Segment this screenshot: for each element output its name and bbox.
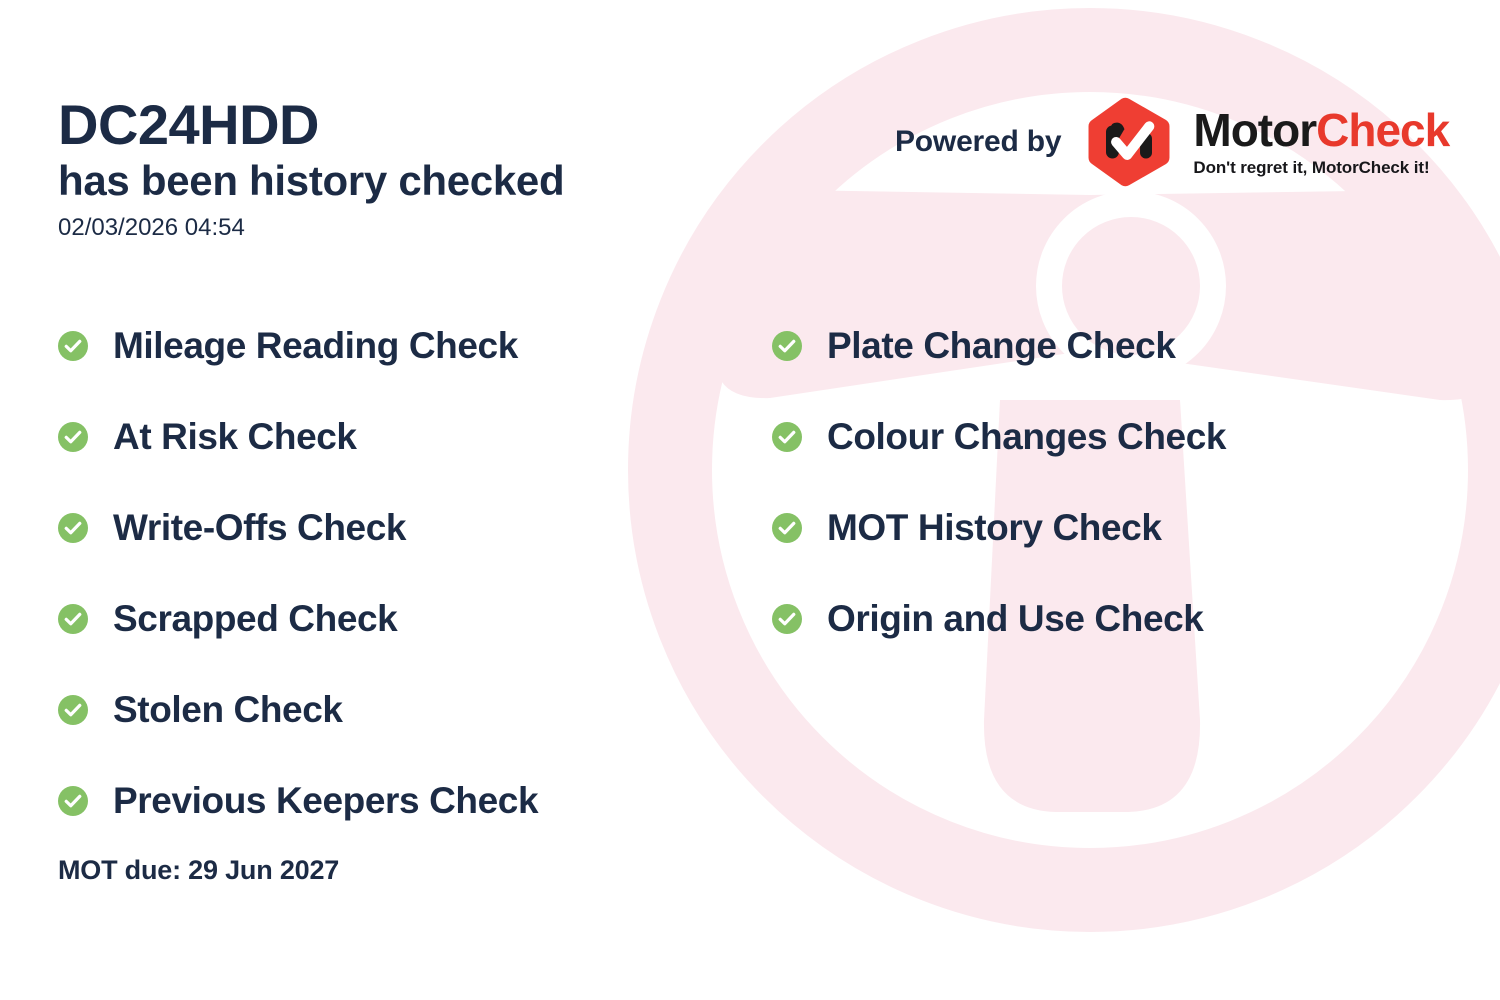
brand-lockup: Powered by MotorCheck Don't regret it, M…: [895, 96, 1449, 188]
check-timestamp: 02/03/2026 04:54: [58, 214, 818, 242]
vehicle-registration: DC24HDD: [58, 96, 818, 153]
list-item-label: At Risk Check: [113, 418, 357, 455]
check-circle-icon: [58, 422, 88, 452]
list-item-label: Stolen Check: [113, 691, 343, 728]
check-circle-icon: [772, 513, 802, 543]
report-header: DC24HDD has been history checked 02/03/2…: [58, 96, 818, 242]
list-item-label: Previous Keepers Check: [113, 782, 538, 819]
list-item: Origin and Use Check: [772, 573, 1226, 664]
list-item-label: Plate Change Check: [827, 327, 1176, 364]
brand-tagline: Don't regret it, MotorCheck it!: [1193, 158, 1449, 178]
list-item-label: Write-Offs Check: [113, 509, 406, 546]
list-item: MOT History Check: [772, 482, 1226, 573]
motorcheck-hexagon-logo-icon: [1083, 96, 1175, 188]
wordmark-text: MotorCheck: [1193, 107, 1449, 153]
check-circle-icon: [58, 331, 88, 361]
wordmark-check: Check: [1316, 104, 1449, 156]
list-item-label: Mileage Reading Check: [113, 327, 518, 364]
list-item-label: Scrapped Check: [113, 600, 397, 637]
check-circle-icon: [58, 604, 88, 634]
list-item-label: Colour Changes Check: [827, 418, 1226, 455]
list-item: At Risk Check: [58, 391, 538, 482]
report-card: DC24HDD has been history checked 02/03/2…: [0, 0, 1500, 1000]
check-circle-icon: [772, 604, 802, 634]
page-title: has been history checked: [58, 155, 818, 206]
checklist-left-column: Mileage Reading Check At Risk Check Writ…: [58, 300, 538, 846]
check-circle-icon: [772, 331, 802, 361]
list-item: Colour Changes Check: [772, 391, 1226, 482]
wordmark-motor: Motor: [1193, 104, 1316, 156]
list-item-label: MOT History Check: [827, 509, 1162, 546]
list-item-label: Origin and Use Check: [827, 600, 1204, 637]
checklist-right-column: Plate Change Check Colour Changes Check …: [772, 300, 1226, 664]
check-circle-icon: [772, 422, 802, 452]
list-item: Previous Keepers Check: [58, 755, 538, 846]
check-circle-icon: [58, 786, 88, 816]
mot-due-date: MOT due: 29 Jun 2027: [58, 855, 339, 886]
check-circle-icon: [58, 513, 88, 543]
list-item: Plate Change Check: [772, 300, 1226, 391]
powered-by-label: Powered by: [895, 125, 1061, 159]
list-item: Stolen Check: [58, 664, 538, 755]
motorcheck-wordmark: MotorCheck Don't regret it, MotorCheck i…: [1193, 107, 1449, 178]
list-item: Mileage Reading Check: [58, 300, 538, 391]
list-item: Write-Offs Check: [58, 482, 538, 573]
list-item: Scrapped Check: [58, 573, 538, 664]
check-circle-icon: [58, 695, 88, 725]
